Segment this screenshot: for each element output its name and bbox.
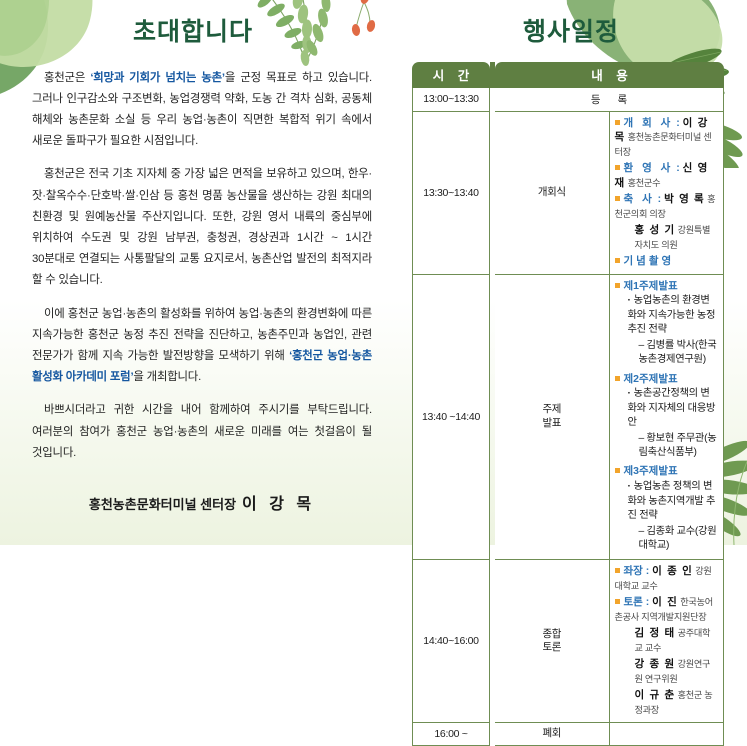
highlighted-phrase: ‘희망과 기회가 넘치는 농촌’ — [90, 72, 225, 84]
schedule-content-cell: 제1주제발표농업농촌의 환경변화와 지속가능한 농정 추진 전략– 김병률 박사… — [610, 275, 725, 561]
schedule-content-cell — [610, 723, 725, 746]
topic-subject: 농촌공간정책의 변화와 지자체의 대응방안 — [628, 387, 719, 430]
schedule-item-separator: : — [655, 193, 664, 205]
schedule-time-cell: 13:00~13:30 — [412, 88, 490, 112]
topic-heading-label: 제3주제발표 — [624, 465, 678, 477]
schedule-item-label: 토론 — [624, 596, 643, 608]
poster-page: 초대합니다 홍천군은 ‘희망과 기회가 넘치는 농촌’을 군정 목표로 하고 있… — [0, 0, 747, 545]
schedule-kind-cell: 개회식 — [495, 112, 610, 275]
schedule-content-cell: 좌장 : 이 종 인 강원대학교 교수토론 : 이 진 한국농어촌공사 지역개발… — [610, 560, 725, 723]
schedule-time-cell: 13:40 ~14:40 — [412, 275, 490, 561]
schedule-item: 좌장 : 이 종 인 강원대학교 교수 — [615, 564, 719, 594]
schedule-item: 개 회 사 : 이 강 목 홍천농촌문화터미널 센터장 — [615, 116, 719, 161]
paragraph-text: 홍천군은 — [44, 72, 90, 84]
schedule-item-label: 개 회 사 — [624, 117, 674, 129]
schedule-person-name: 이 진 — [652, 596, 678, 608]
schedule-item-separator: : — [673, 117, 682, 129]
invitation-paragraph: 이에 홍천군 농업·농촌의 활성화를 위하여 농업·농촌의 환경변화에 따른 지… — [32, 304, 372, 389]
topic-heading-label: 제2주제발표 — [624, 373, 678, 385]
schedule-person-name: 강 종 원 — [635, 658, 676, 670]
topic-heading: 제1주제발표 — [615, 279, 719, 294]
schedule-item: 축 사 : 박 영 록 홍천군의회 의장 — [615, 192, 719, 222]
schedule-continuation-line: 이 규 춘 홍천군 농정과장 — [635, 688, 719, 718]
schedule-item: 기념촬영 — [615, 254, 719, 269]
schedule-person-name: 홍 성 기 — [635, 224, 676, 236]
schedule-person-name: 이 규 춘 — [635, 689, 676, 701]
schedule-content-cell: 등 록 — [495, 88, 724, 112]
topic-subject: 농업농촌의 환경변화와 지속가능한 농정 추진 전략 — [628, 294, 719, 337]
schedule-header-row: 시 간 내 용 — [412, 62, 724, 88]
invitation-paragraph: 바쁘시더라고 귀한 시간을 내어 함께하여 주시기를 부탁드립니다. 여러분의 … — [32, 400, 372, 464]
schedule-item-separator: : — [673, 162, 682, 174]
schedule-title: 행사일정 — [418, 18, 724, 46]
schedule-person-name: 박 영 록 — [664, 193, 705, 205]
schedule-table: 시 간 내 용 13:00~13:30등 록13:30~13:40개회식개 회 … — [412, 62, 724, 746]
schedule-kind-cell: 종합토론 — [495, 560, 610, 723]
topic-heading-label: 제1주제발표 — [624, 280, 678, 292]
schedule-content-cell: 개 회 사 : 이 강 목 홍천농촌문화터미널 센터장환 영 사 : 신 영 재… — [610, 112, 725, 275]
topic-subject: 농업농촌 정책의 변화와 농촌지역개발 추진 전략 — [628, 480, 719, 523]
schedule-item-label: 좌장 — [624, 565, 643, 577]
invitation-body: 홍천군은 ‘희망과 기회가 넘치는 농촌’을 군정 목표로 하고 있습니다. 그… — [32, 68, 372, 464]
topic-presenter: – 김병률 박사(한국농촌경제연구원) — [639, 339, 719, 368]
invitation-paragraph: 홍천군은 ‘희망과 기회가 넘치는 농촌’을 군정 목표로 하고 있습니다. 그… — [32, 68, 372, 153]
schedule-person-affiliation: 홍천군수 — [625, 178, 660, 188]
topic-presenter: – 황보현 주무관(농림축산식품부) — [639, 432, 719, 461]
signature-name: 이 강 목 — [242, 496, 315, 513]
schedule-item-label: 환 영 사 — [624, 162, 674, 174]
schedule-row: 14:40~16:00종합토론좌장 : 이 종 인 강원대학교 교수토론 : 이… — [412, 560, 724, 723]
schedule-item-label: 축 사 — [624, 193, 655, 205]
schedule-person-affiliation: 홍천농촌문화터미널 센터장 — [615, 132, 712, 157]
schedule-item: 토론 : 이 진 한국농어촌공사 지역개발지원단장 — [615, 595, 719, 625]
column-header-content: 내 용 — [495, 62, 724, 88]
schedule-item-separator: : — [643, 596, 652, 608]
schedule-kind-cell: 폐회 — [495, 723, 610, 746]
schedule-row: 13:00~13:30등 록 — [412, 88, 724, 112]
schedule-time-cell: 16:00 ~ — [412, 723, 490, 746]
schedule-row: 16:00 ~폐회 — [412, 723, 724, 746]
topic-heading: 제2주제발표 — [615, 372, 719, 387]
schedule-time-cell: 13:30~13:40 — [412, 112, 490, 275]
schedule-time-cell: 14:40~16:00 — [412, 560, 490, 723]
schedule-column: 행사일정 시 간 내 용 13:00~13:30등 록13:30~13:40개회… — [412, 18, 724, 746]
schedule-person-name: 김 정 태 — [635, 627, 676, 639]
schedule-kind-cell: 주제발표 — [495, 275, 610, 561]
schedule-continuation-line: 강 종 원 강원연구원 연구위원 — [635, 657, 719, 687]
schedule-item: 환 영 사 : 신 영 재 홍천군수 — [615, 161, 719, 191]
paragraph-text: 을 개최합니다. — [133, 371, 201, 383]
schedule-table-body: 13:00~13:30등 록13:30~13:40개회식개 회 사 : 이 강 … — [412, 88, 724, 746]
schedule-row: 13:40 ~14:40주제발표제1주제발표농업농촌의 환경변화와 지속가능한 … — [412, 275, 724, 561]
column-header-time: 시 간 — [412, 62, 490, 88]
topic-presenter: – 김종화 교수(강원대학교) — [639, 525, 719, 554]
schedule-row: 13:30~13:40개회식개 회 사 : 이 강 목 홍천농촌문화터미널 센터… — [412, 112, 724, 275]
invitation-paragraph: 홍천군은 전국 기초 지자체 중 가장 넓은 면적을 보유하고 있으며, 한우·… — [32, 164, 372, 291]
schedule-continuation-line: 홍 성 기 강원특별자치도 의원 — [635, 223, 719, 253]
paragraph-text: 홍천군은 전국 기초 지자체 중 가장 넓은 면적을 보유하고 있으며, 한우·… — [32, 168, 372, 286]
paragraph-text: 바쁘시더라고 귀한 시간을 내어 함께하여 주시기를 부탁드립니다. 여러분의 … — [32, 404, 372, 458]
invitation-column: 초대합니다 홍천군은 ‘희망과 기회가 넘치는 농촌’을 군정 목표로 하고 있… — [32, 18, 372, 514]
invitation-title: 초대합니다 — [14, 18, 372, 46]
signature-block: 홍천농촌문화터미널 센터장이 강 목 — [32, 490, 372, 514]
schedule-table-head: 시 간 내 용 — [412, 62, 724, 88]
topic-heading: 제3주제발표 — [615, 464, 719, 479]
schedule-continuation-line: 김 정 태 공주대학교 교수 — [635, 626, 719, 656]
schedule-item-label: 기념촬영 — [624, 255, 675, 267]
signature-organization: 홍천농촌문화터미널 센터장 — [89, 497, 236, 512]
schedule-person-name: 이 종 인 — [652, 565, 693, 577]
schedule-item-separator: : — [643, 565, 652, 577]
